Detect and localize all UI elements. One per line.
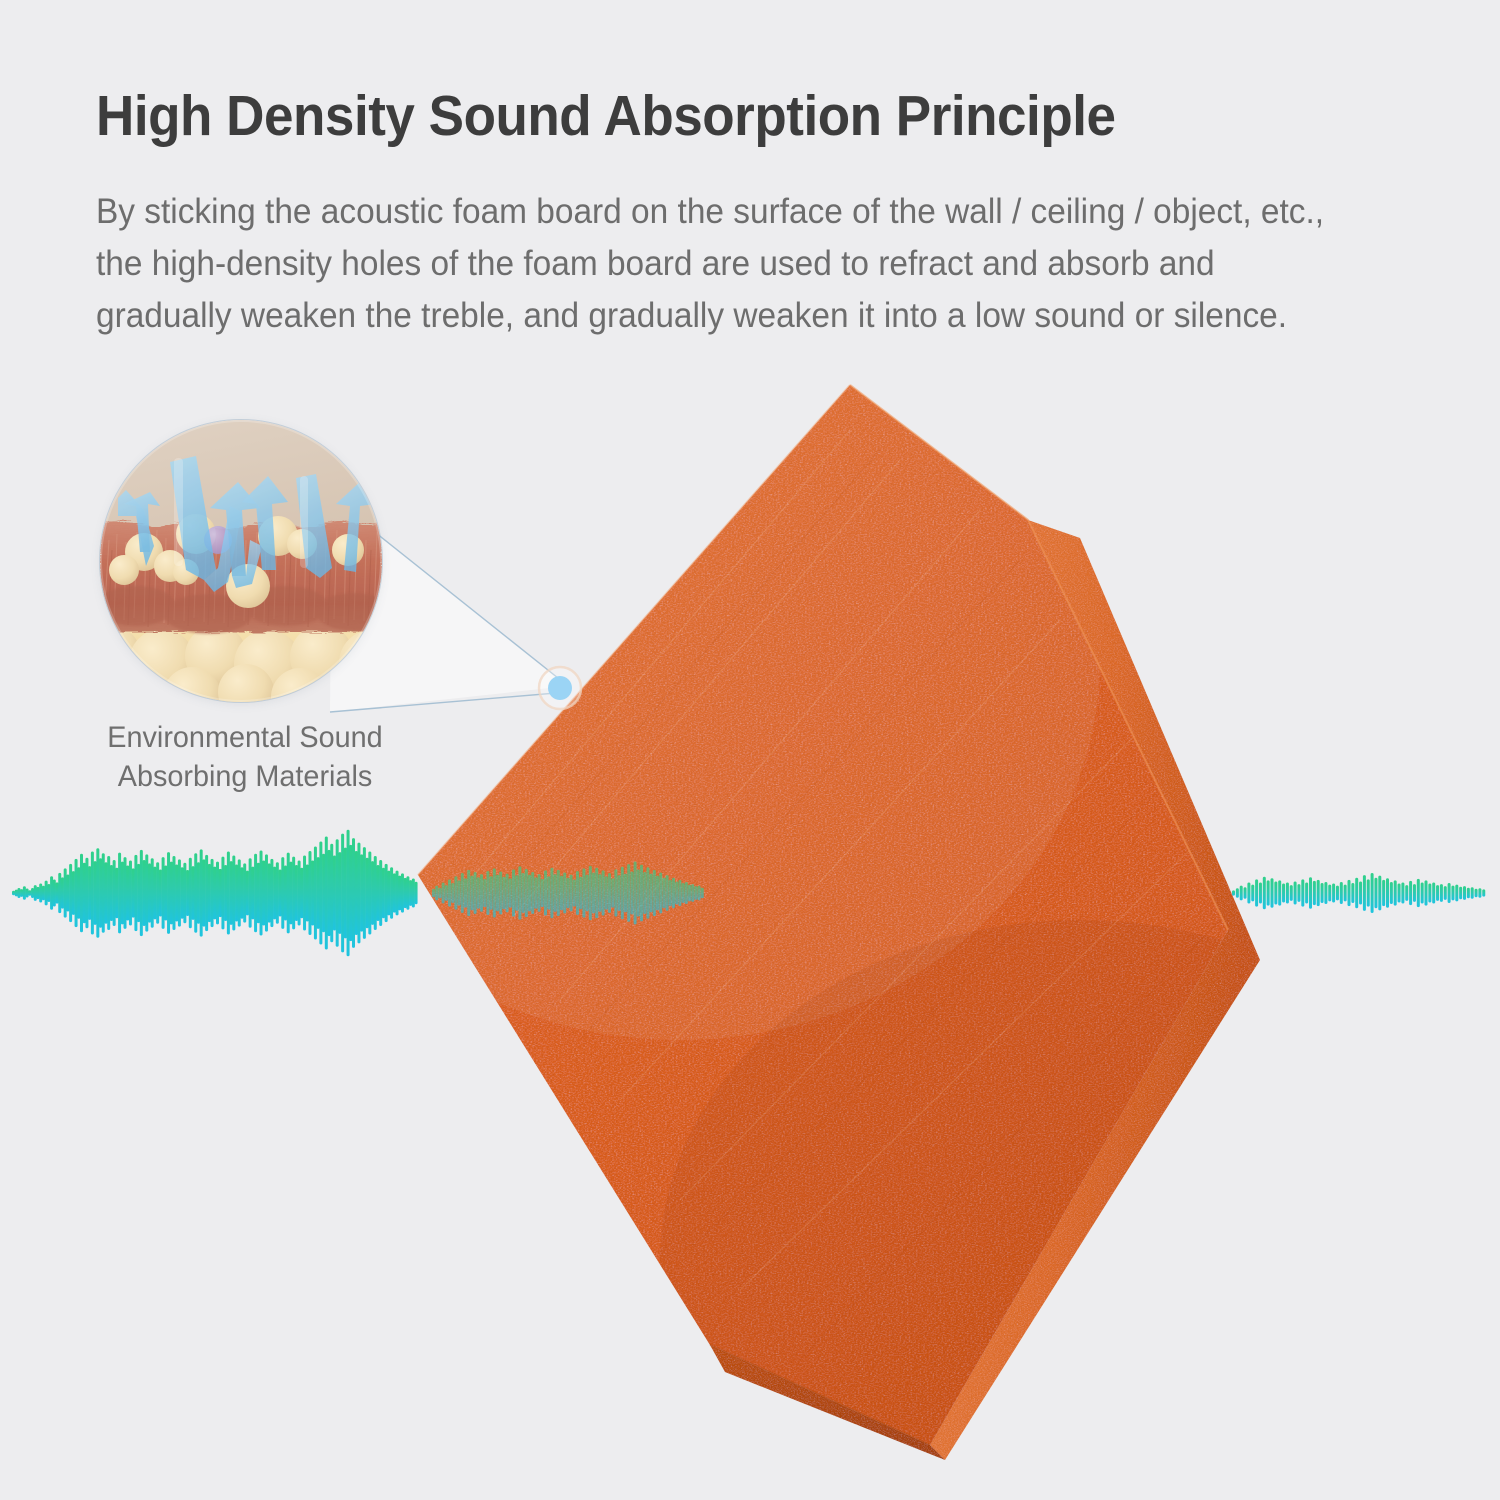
page-title: High Density Sound Absorption Principle [96, 84, 1324, 148]
magnifier-caption: Environmental Sound Absorbing Materials [67, 718, 422, 796]
infographic-canvas: High Density Sound Absorption Principle … [0, 0, 1500, 1500]
description-paragraph: By sticking the acoustic foam board on t… [96, 186, 1357, 342]
magnifier-caption-line2: Absorbing Materials [67, 757, 422, 796]
magnifier-caption-line1: Environmental Sound [67, 718, 422, 757]
magnified-material-cross-section [100, 420, 382, 702]
